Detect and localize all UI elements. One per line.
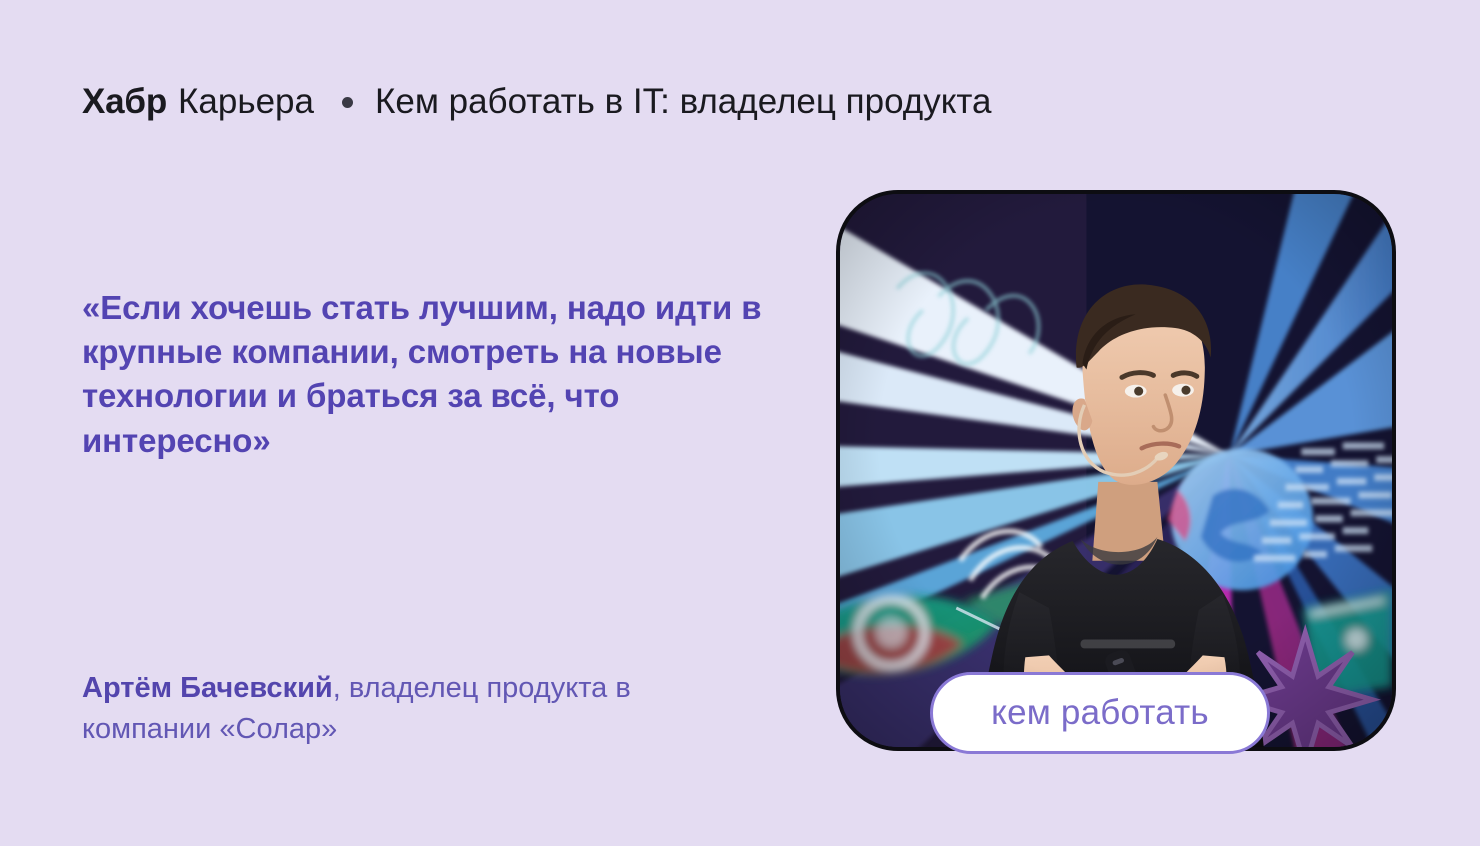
attribution-name: Артём Бачевский [82,672,333,704]
attribution: Артём Бачевский, владелец продукта в ком… [82,668,642,750]
kem-rabotat-button[interactable]: кем работать [930,672,1270,754]
header: Хабр Карьера Кем работать в IT: владелец… [82,82,992,122]
speaker-portrait-photo [840,194,1392,747]
brand-name-light: Карьера [178,82,314,122]
speaker-photo-card [836,190,1396,751]
cta-label: кем работать [991,695,1209,730]
bullet-dot-icon [342,97,353,108]
brand-name-bold: Хабр [82,82,167,122]
photo-illustration [840,194,1392,747]
poster-canvas: Хабр Карьера Кем работать в IT: владелец… [0,0,1480,846]
quote-text: «Если хочешь стать лучшим, надо идти в к… [82,286,772,463]
page-title: Кем работать в IT: владелец продукта [375,82,992,122]
